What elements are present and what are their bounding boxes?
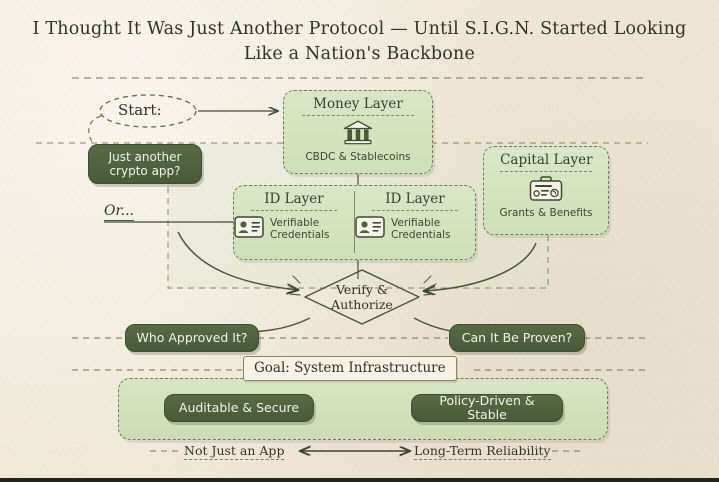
node-money-layer[interactable]: Money Layer CBDC & Stablecoins (283, 90, 433, 174)
node-capital-layer[interactable]: Capital Layer Grants & Benefits (483, 146, 609, 235)
title-line-1: I Thought It Was Just Another Protocol —… (0, 17, 719, 42)
id-layer-right-title: ID Layer (372, 191, 458, 211)
question-left-label: Who Approved It? (136, 331, 247, 345)
node-can-it-be-proven[interactable]: Can It Be Proven? (449, 324, 585, 352)
node-label: Just another crypto app? (97, 150, 193, 178)
node-who-approved-it[interactable]: Who Approved It? (125, 324, 259, 352)
node-id-layer-group: ID Layer Verifiable Credentials ID Layer (233, 185, 476, 260)
footer-right-label: Long-Term Reliability (414, 443, 551, 460)
title-line-2: Like a Nation's Backbone (0, 42, 719, 67)
id-layer-left-subtitle: Verifiable Credentials (270, 217, 354, 241)
goal-right-label: Policy-Driven & Stable (420, 394, 554, 422)
or-label: Or... (104, 203, 134, 221)
capital-layer-subtitle: Grants & Benefits (500, 207, 593, 219)
node-just-another-crypto-app[interactable]: Just another crypto app? (88, 144, 202, 184)
node-id-layer-right[interactable]: ID Layer Verifiable Credentials (355, 191, 475, 253)
bank-icon (341, 119, 375, 147)
id-card-icon (234, 216, 264, 242)
id-card-icon (355, 216, 385, 242)
id-layer-right-subtitle: Verifiable Credentials (391, 217, 475, 241)
verify-line-2: Authorize (331, 297, 393, 312)
node-verify-authorize[interactable]: Verify & Authorize (302, 268, 422, 326)
verify-line-1: Verify & (336, 282, 388, 297)
footer-left-label: Not Just an App (184, 443, 284, 460)
page-title: I Thought It Was Just Another Protocol —… (0, 17, 719, 67)
money-layer-subtitle: CBDC & Stablecoins (305, 151, 410, 163)
diagram-canvas: I Thought It Was Just Another Protocol —… (0, 0, 719, 482)
goal-left-label: Auditable & Secure (179, 401, 299, 415)
question-right-label: Can It Be Proven? (462, 331, 573, 345)
start-label: Start: (118, 101, 162, 119)
money-layer-title: Money Layer (302, 96, 414, 116)
node-id-layer-left[interactable]: ID Layer Verifiable Credentials (234, 191, 355, 253)
id-layer-left-title: ID Layer (251, 191, 337, 211)
capital-layer-title: Capital Layer (500, 152, 592, 172)
goal-tag: Goal: System Infrastructure (243, 356, 457, 381)
briefcase-icon (528, 175, 564, 203)
node-auditable-and-secure[interactable]: Auditable & Secure (164, 394, 314, 422)
node-policy-driven-and-stable[interactable]: Policy-Driven & Stable (411, 394, 563, 422)
